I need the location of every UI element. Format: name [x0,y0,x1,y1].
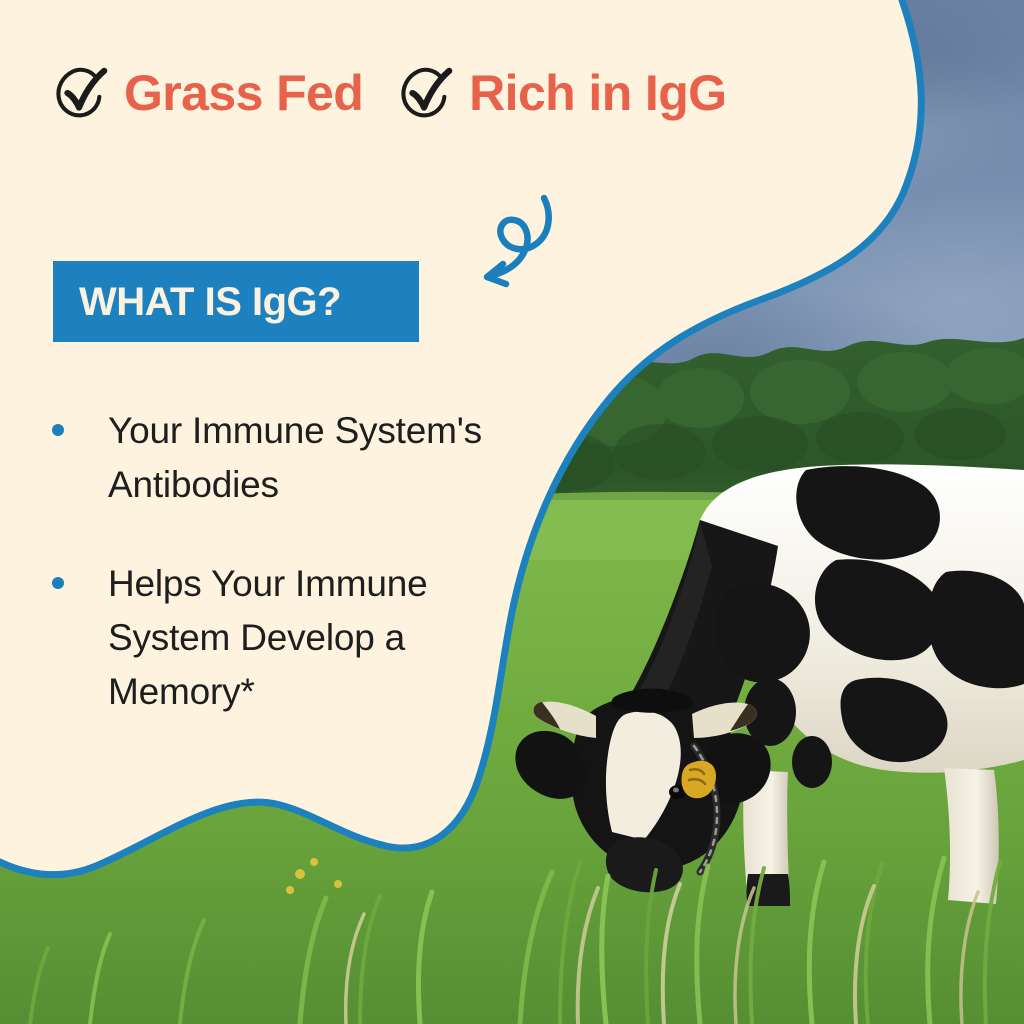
check-circle-icon [397,66,455,124]
feature-headline-row: Grass Fed Rich in IgG [52,64,726,122]
feature-grass-fed: Grass Fed [52,64,363,122]
banner-title: WHAT IS IgG? [79,282,341,322]
list-item: Helps Your Immune System Develop a Memor… [52,557,492,718]
curved-loop-arrow-icon [458,192,566,290]
bullet-text: Your Immune System's Antibodies [108,404,492,511]
what-is-igg-banner: WHAT IS IgG? [53,261,419,342]
bullet-dot-icon [52,577,64,589]
content-layer: Grass Fed Rich in IgG WHAT IS IgG [0,0,1024,1024]
feature-rich-in-igg: Rich in IgG [397,64,726,122]
infographic-canvas: Grass Fed Rich in IgG WHAT IS IgG [0,0,1024,1024]
bullet-text: Helps Your Immune System Develop a Memor… [108,557,492,718]
check-circle-icon [52,66,110,124]
igg-bullet-list: Your Immune System's Antibodies Helps Yo… [52,404,492,718]
feature-label: Rich in IgG [469,68,726,118]
feature-label: Grass Fed [124,68,363,118]
list-item: Your Immune System's Antibodies [52,404,492,511]
bullet-dot-icon [52,424,64,436]
